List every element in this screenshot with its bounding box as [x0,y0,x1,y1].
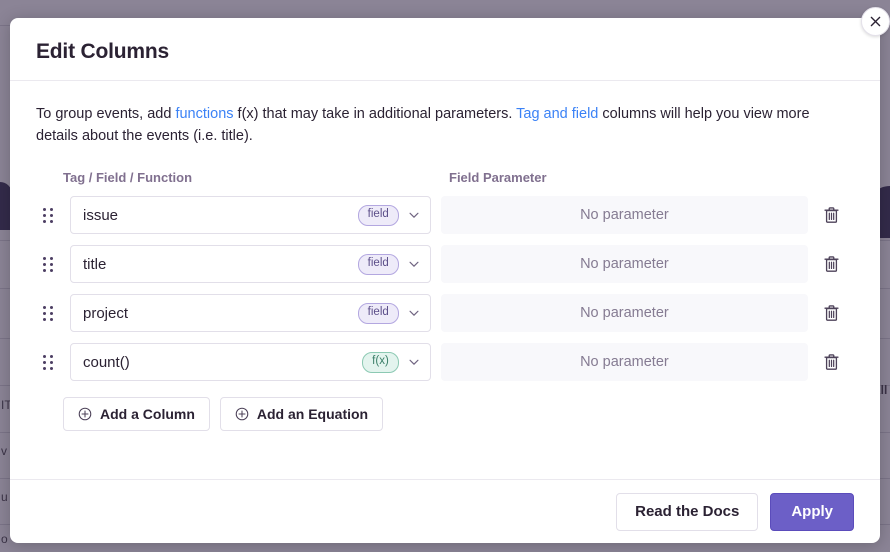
delete-column-button[interactable] [808,304,854,322]
read-the-docs-button[interactable]: Read the Docs [616,493,758,531]
column-select[interactable]: issuefield [70,196,431,234]
description-text-part-2: f(x) that may take in additional paramet… [234,106,517,122]
trash-icon [823,353,840,371]
add-actions: Add a Column Add an Equation [36,397,854,431]
column-select-value: issue [83,207,358,224]
delete-column-button[interactable] [808,353,854,371]
backdrop-text-fragment: o [1,532,8,546]
field-parameter-box: No parameter [441,343,808,381]
modal-header: Edit Columns [10,18,880,81]
close-x-glyph [870,16,881,27]
field-parameter-value: No parameter [580,354,669,370]
chevron-down-icon [407,208,421,222]
close-icon[interactable] [861,7,890,36]
plus-circle-icon [78,407,92,421]
column-select[interactable]: count()f(x) [70,343,431,381]
field-parameter-value: No parameter [580,305,669,321]
apply-button[interactable]: Apply [770,493,854,531]
column-type-badge: field [358,303,399,323]
add-a-column-button[interactable]: Add a Column [63,397,210,431]
backdrop-text-fragment: v [1,444,7,458]
column-select[interactable]: projectfield [70,294,431,332]
column-select-value: project [83,305,358,322]
add-an-equation-button[interactable]: Add an Equation [220,397,383,431]
field-parameter-box: No parameter [441,294,808,332]
chevron-down-icon [407,306,421,320]
delete-column-button[interactable] [808,255,854,273]
column-select-value: title [83,256,358,273]
functions-link[interactable]: functions [175,106,233,122]
backdrop-text-fragment: u [1,490,8,504]
field-parameter-value: No parameter [580,256,669,272]
field-parameter-value: No parameter [580,207,669,223]
header-field-parameter: Field Parameter [449,170,839,185]
edit-columns-modal: Edit Columns To group events, add functi… [10,18,880,543]
drag-handle-icon[interactable] [36,306,70,321]
field-parameter-box: No parameter [441,245,808,283]
modal-body: To group events, add functions f(x) that… [10,81,880,479]
delete-column-button[interactable] [808,206,854,224]
chevron-down-icon [407,355,421,369]
drag-handle-icon[interactable] [36,355,70,370]
table-row: issuefieldNo parameter [36,191,854,240]
modal-footer: Read the Docs Apply [10,479,880,543]
tag-and-field-link[interactable]: Tag and field [516,106,598,122]
page-title: Edit Columns [36,40,854,64]
trash-icon [823,255,840,273]
trash-icon [823,206,840,224]
description-text-part-1: To group events, add [36,106,175,122]
column-rows: issuefieldNo parametertitlefieldNo param… [36,191,854,387]
header-tag-field-function: Tag / Field / Function [63,170,449,185]
column-select-value: count() [83,354,362,371]
column-headers: Tag / Field / Function Field Parameter [36,170,854,185]
column-type-badge: f(x) [362,352,399,372]
column-type-badge: field [358,254,399,274]
table-row: count()f(x)No parameter [36,338,854,387]
drag-handle-icon[interactable] [36,208,70,223]
column-type-badge: field [358,205,399,225]
add-an-equation-label: Add an Equation [257,406,368,422]
trash-icon [823,304,840,322]
table-row: projectfieldNo parameter [36,289,854,338]
add-a-column-label: Add a Column [100,406,195,422]
chevron-down-icon [407,257,421,271]
drag-handle-icon[interactable] [36,257,70,272]
table-row: titlefieldNo parameter [36,240,854,289]
plus-circle-icon [235,407,249,421]
column-select[interactable]: titlefield [70,245,431,283]
modal-description: To group events, add functions f(x) that… [36,103,836,148]
field-parameter-box: No parameter [441,196,808,234]
